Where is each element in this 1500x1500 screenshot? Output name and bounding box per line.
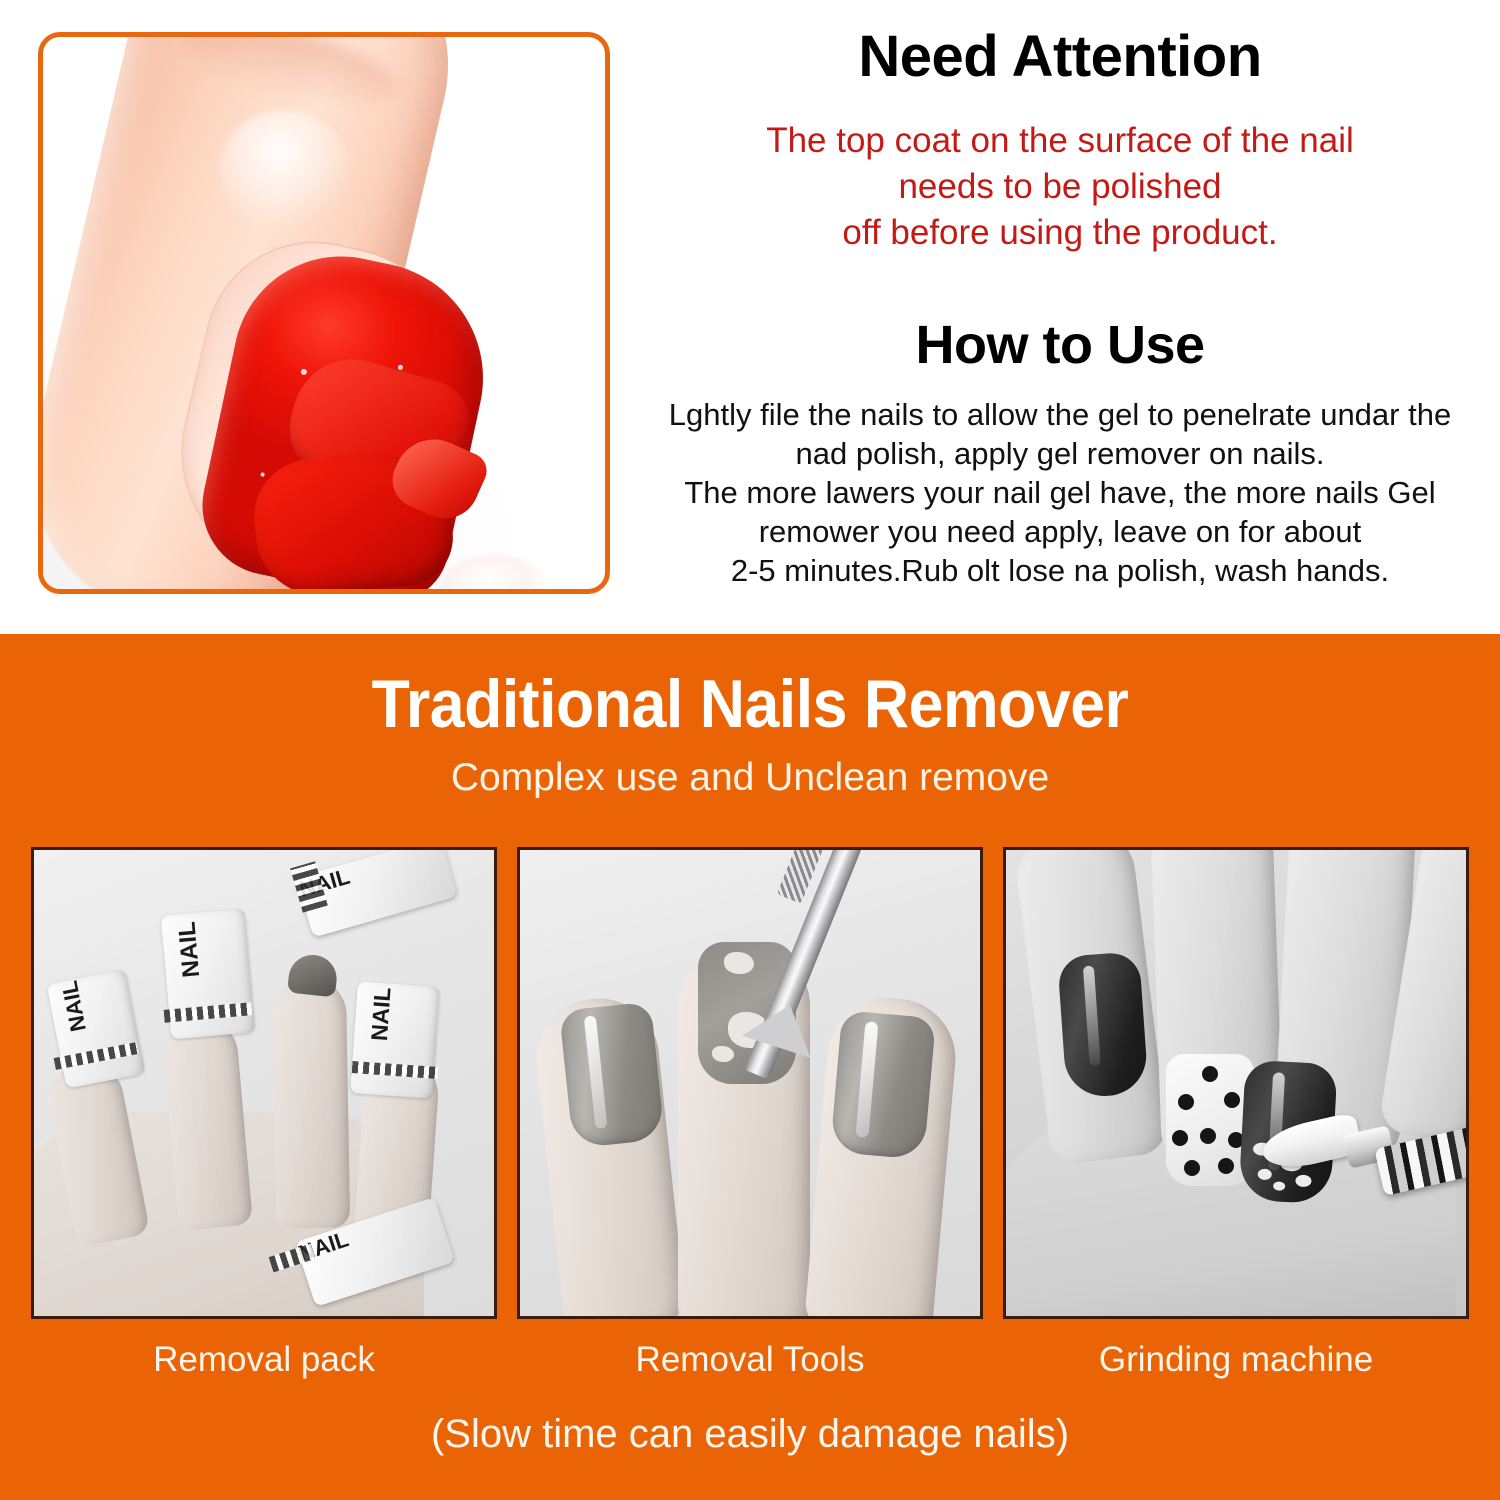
foil-wrap-label: NAIL xyxy=(57,978,92,1033)
photo-card-grinding-machine xyxy=(1003,847,1469,1319)
photo-removal-tools xyxy=(520,850,980,1316)
howto-line-4: remower you need apply, leave on for abo… xyxy=(620,512,1500,551)
finger-highlight xyxy=(208,98,364,245)
ground-speck xyxy=(1295,1174,1312,1187)
nail-dot xyxy=(1178,1094,1194,1110)
traditional-remover-section: Traditional Nails Remover Complex use an… xyxy=(0,634,1500,1500)
need-attention-heading: Need Attention xyxy=(620,28,1500,86)
howto-line-3: The more lawers your nail gel have, the … xyxy=(620,473,1500,512)
polished-nail xyxy=(559,1002,665,1149)
banner-subtitle: Complex use and Unclean remove xyxy=(0,758,1500,797)
banner-title: Traditional Nails Remover xyxy=(60,670,1440,738)
photo-removal-pack: NAIL NAIL NAIL xyxy=(34,850,494,1316)
howto-line-1: Lghtly file the nails to allow the gel t… xyxy=(620,395,1500,434)
photo-caption-row: Removal pack Removal Tools Grinding mach… xyxy=(31,1342,1469,1377)
dark-polished-nail xyxy=(1057,951,1149,1098)
banner-footnote: (Slow time can easily damage nails) xyxy=(0,1414,1500,1454)
hero-photo-nail-with-red-gel xyxy=(43,37,605,589)
ground-speck xyxy=(1257,1168,1272,1180)
need-attention-body: The top coat on the surface of the nail … xyxy=(620,118,1500,256)
attention-line-3: off before using the product. xyxy=(620,210,1500,256)
hero-photo-frame xyxy=(38,32,610,594)
finger-shape xyxy=(272,977,350,1228)
how-to-use-body: Lghtly file the nails to allow the gel t… xyxy=(620,395,1500,590)
nail-dot xyxy=(1218,1158,1234,1174)
comparison-photo-row: NAIL NAIL NAIL xyxy=(31,847,1469,1319)
polish-chip xyxy=(724,952,754,974)
product-infographic: Need Attention The top coat on the surfa… xyxy=(0,0,1500,1500)
instructions-section: Need Attention The top coat on the surfa… xyxy=(0,0,1500,634)
foil-wrap: NAIL xyxy=(350,981,440,1098)
polish-chip xyxy=(712,1046,734,1062)
gel-sparkle xyxy=(260,472,265,477)
caption-grinding-machine: Grinding machine xyxy=(1003,1342,1469,1377)
caption-removal-tools: Removal Tools xyxy=(517,1342,983,1377)
gel-gloss-highlight xyxy=(436,551,548,589)
nail-dot xyxy=(1184,1160,1200,1176)
howto-line-2: nad polish, apply gel remover on nails. xyxy=(620,434,1500,473)
foil-wrap-label: NAIL xyxy=(173,920,206,978)
nail-dot xyxy=(1200,1128,1216,1144)
howto-line-5: 2-5 minutes.Rub olt lose na polish, wash… xyxy=(620,551,1500,590)
photo-card-removal-tools xyxy=(517,847,983,1319)
photo-grinding-machine xyxy=(1006,850,1466,1316)
photo-card-removal-pack: NAIL NAIL NAIL xyxy=(31,847,497,1319)
caption-removal-pack: Removal pack xyxy=(31,1342,497,1377)
ground-speck xyxy=(1273,1181,1285,1191)
finger-knuckle xyxy=(175,37,404,121)
attention-line-1: The top coat on the surface of the nail xyxy=(620,118,1500,164)
nail-dot xyxy=(1202,1066,1218,1082)
polished-nail xyxy=(830,1010,936,1160)
nail-dot xyxy=(1172,1130,1188,1146)
instructions-text-column: Need Attention The top coat on the surfa… xyxy=(620,0,1500,634)
attention-line-2: needs to be polished xyxy=(620,164,1500,210)
foil-wrap-label: NAIL xyxy=(366,986,397,1041)
how-to-use-heading: How to Use xyxy=(620,318,1500,372)
nail-dot xyxy=(1224,1092,1240,1108)
gel-sparkle xyxy=(300,368,307,375)
